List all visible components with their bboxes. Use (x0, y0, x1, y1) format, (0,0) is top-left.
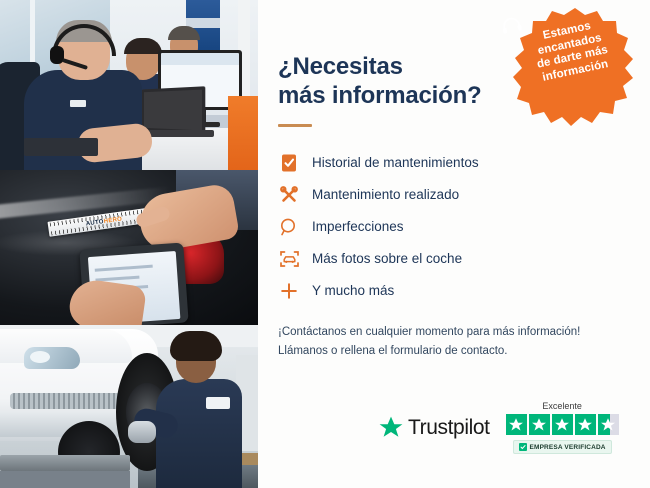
list-item-label: Imperfecciones (312, 220, 404, 234)
laptop-screen (144, 90, 202, 131)
badge-text: Estamos encantados de darte más informac… (530, 17, 612, 85)
mechanic-glove (128, 421, 156, 443)
verified-label: EMPRESA VERIFICADA (530, 444, 606, 451)
badge-content: Estamos encantados de darte más informac… (499, 0, 650, 145)
list-item: Historial de mantenimientos (278, 147, 622, 179)
contact-text: ¡Contáctanos en cualquier momento para m… (278, 323, 622, 361)
star-filled-icon (575, 414, 596, 435)
magnifier-icon (278, 216, 300, 238)
list-item-label: Más fotos sobre el coche (312, 252, 462, 266)
trustpilot-widget[interactable]: Trustpilot Excelente (378, 401, 619, 454)
mechanic-wheel-check-photo (0, 325, 258, 488)
list-item-label: Historial de mantenimientos (312, 156, 479, 170)
star-filled-icon (506, 414, 527, 435)
headset-icon (499, 15, 524, 35)
list-item: Y mucho más (278, 275, 622, 307)
verified-company-badge: EMPRESA VERIFICADA (513, 440, 612, 454)
tablet-line (95, 265, 153, 272)
car-grille (10, 393, 122, 409)
agent-one-badge (70, 100, 86, 107)
keyboard (24, 138, 98, 156)
car-lift-arm (0, 455, 130, 471)
star-partial-icon (598, 414, 619, 435)
call-center-agents-photo (0, 0, 258, 170)
verified-check-icon (519, 443, 527, 451)
list-item: Mantenimiento realizado (278, 179, 622, 211)
document-check-icon (278, 152, 300, 174)
mechanic-hair (170, 331, 222, 361)
car-scan-icon (278, 248, 300, 270)
star-filled-icon (552, 414, 573, 435)
rating-label: Excelente (542, 401, 582, 411)
list-item-label: Mantenimiento realizado (312, 188, 459, 202)
car-inspection-ruler-photo: AUTOHERO (0, 170, 258, 325)
status-badge: Estamos encantados de darte más informac… (511, 5, 639, 133)
contact-line-1: ¡Contáctanos en cualquier momento para m… (278, 323, 622, 342)
list-item: Imperfecciones (278, 211, 622, 243)
trustpilot-wordmark: Trustpilot (408, 416, 490, 440)
headline-line-2: más información? (278, 82, 482, 109)
content-panel: ¿Necesitas más información? Historial de… (258, 0, 650, 488)
headline-line-1: ¿Necesitas (278, 53, 403, 80)
contact-line-2: Llámanos o rellena el formulario de cont… (278, 342, 622, 361)
tools-icon (278, 184, 300, 206)
trustpilot-logo[interactable]: Trustpilot (378, 415, 490, 441)
title-underline-divider (278, 124, 312, 127)
plus-icon (278, 280, 300, 302)
star-filled-icon (529, 414, 550, 435)
orange-divider-panel (228, 96, 258, 170)
feature-list: Historial de mantenimientos Mantenimient… (278, 147, 622, 307)
list-item-label: Y mucho más (312, 284, 394, 298)
car-headlight (24, 347, 80, 369)
info-banner: AUTOHERO (0, 0, 650, 488)
laptop (142, 86, 206, 134)
list-item: Más fotos sobre el coche (278, 243, 622, 275)
page-title: ¿Necesitas más información? (278, 52, 518, 111)
photo-column: AUTOHERO (0, 0, 258, 488)
trustpilot-star-icon (378, 415, 404, 441)
trustpilot-rating[interactable]: Excelente (506, 401, 619, 454)
car-lift-base (0, 471, 130, 488)
mechanic-uniform-logo (206, 397, 230, 409)
star-rating (506, 414, 619, 435)
headlight-reflector (30, 351, 50, 363)
